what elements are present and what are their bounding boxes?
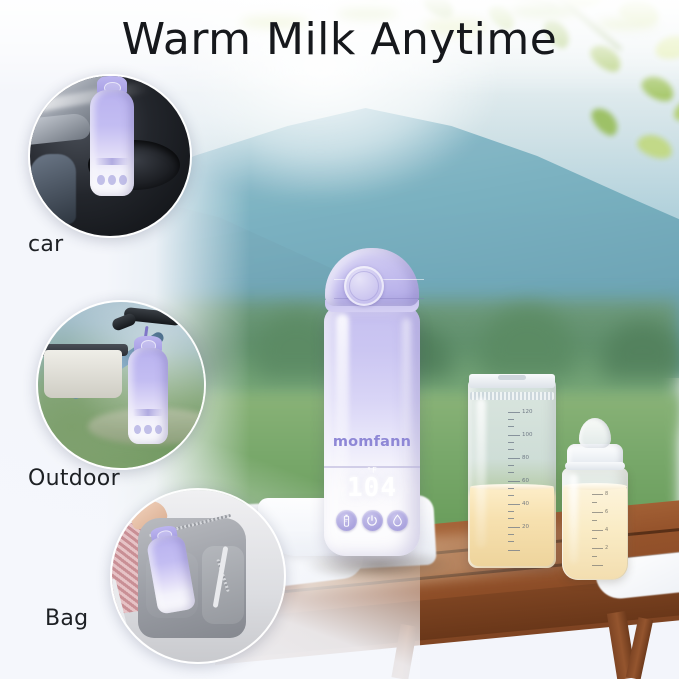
milk-bag-tick-label: 20 xyxy=(522,524,529,530)
baby-bottle-measurement-scale: 8 6 4 2 xyxy=(592,494,603,566)
baby-bottle-icon xyxy=(341,514,352,527)
water-drop-icon xyxy=(392,514,403,527)
bottle-lid-knob[interactable] xyxy=(344,266,384,306)
product-marketing-image: Warm Milk Anytime car xyxy=(0,0,679,679)
baby-bottle-tick-label: 8 xyxy=(605,491,608,497)
baby-bottle-tick-label: 2 xyxy=(605,545,608,551)
stroller-basket xyxy=(44,350,122,398)
page-title: Warm Milk Anytime xyxy=(0,14,679,65)
baby-bottle-nipple xyxy=(579,418,611,448)
bottle-mode-button[interactable] xyxy=(336,510,357,531)
callout-bag-label: Bag xyxy=(45,606,88,631)
power-icon xyxy=(366,515,378,527)
callout-bag-scene xyxy=(112,490,284,662)
mini-bottle-outdoor xyxy=(128,348,168,444)
baby-bottle-tick-label: 4 xyxy=(605,527,608,533)
callout-car-label: car xyxy=(28,232,64,257)
callout-outdoor-label: Outdoor xyxy=(28,466,120,491)
callout-outdoor-scene xyxy=(38,302,204,468)
temperature-value: 104 xyxy=(324,473,420,503)
callout-car[interactable] xyxy=(28,74,192,238)
baby-bottle-tick-label: 6 xyxy=(605,509,608,515)
milk-bag-tick-label: 80 xyxy=(522,455,529,461)
car-gear-shifter xyxy=(30,154,76,224)
baby-bottle: 8 6 4 2 xyxy=(556,418,634,580)
milk-bag-measurement-scale: 120 100 80 60 40 20 xyxy=(508,412,520,552)
milk-bag-tick-label: 40 xyxy=(522,501,529,507)
milk-bag-tick-label: 120 xyxy=(522,409,533,415)
water-drop-button[interactable] xyxy=(387,510,408,531)
callout-car-scene xyxy=(30,76,190,236)
callout-outdoor[interactable] xyxy=(36,300,206,470)
power-button[interactable] xyxy=(362,510,383,531)
milk-bag-tick-label: 60 xyxy=(522,478,529,484)
callout-bag[interactable] xyxy=(110,488,286,664)
control-button-row xyxy=(336,510,408,531)
milk-bag-tick-label: 100 xyxy=(522,432,533,438)
temperature-display: °F 104 xyxy=(324,466,420,508)
milk-storage-bag: 120 100 80 60 40 20 xyxy=(468,368,556,568)
brand-logo: momfann xyxy=(324,434,420,450)
milk-warmer-bottle[interactable]: momfann °F 104 xyxy=(318,248,426,578)
mini-bottle-car xyxy=(90,90,134,196)
